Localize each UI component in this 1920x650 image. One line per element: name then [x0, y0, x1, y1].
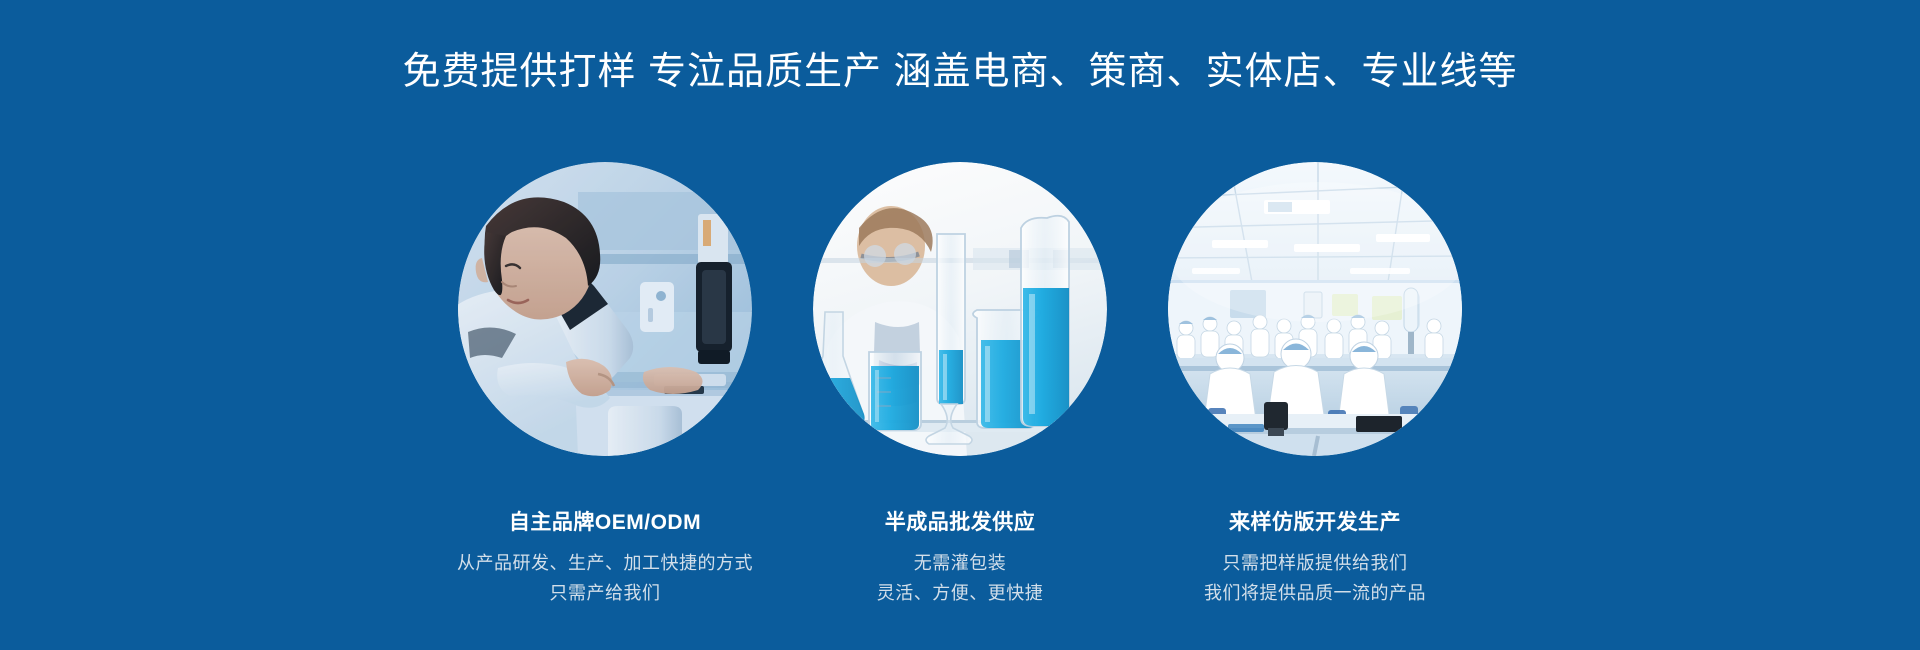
feature-card-line: 只需产给我们 [457, 578, 753, 608]
banner-headline: 免费提供打样 专泣品质生产 涵盖电商、策商、实体店、专业线等 [0, 46, 1920, 98]
feature-card-line: 灵活、方便、更快捷 [877, 578, 1044, 608]
feature-card-description: 只需把样版提供给我们 我们将提供品质一流的产品 [1204, 548, 1426, 608]
feature-card[interactable]: 自主品牌OEM/ODM 从产品研发、生产、加工快捷的方式 只需产给我们 [457, 162, 753, 608]
feature-card-title: 来样仿版开发生产 [1229, 510, 1401, 536]
feature-card-description: 无需灌包装 灵活、方便、更快捷 [877, 548, 1044, 608]
feature-card-description: 从产品研发、生产、加工快捷的方式 只需产给我们 [457, 548, 753, 608]
promo-banner: 免费提供打样 专泣品质生产 涵盖电商、策商、实体店、专业线等 [0, 0, 1920, 650]
scientist-microscope-photo [458, 162, 752, 456]
feature-card-line: 无需灌包装 [877, 548, 1044, 578]
feature-card[interactable]: 半成品批发供应 无需灌包装 灵活、方便、更快捷 [812, 162, 1108, 608]
feature-card-title: 自主品牌OEM/ODM [509, 510, 701, 536]
cleanroom-factory-photo [1168, 162, 1462, 456]
feature-card[interactable]: 来样仿版开发生产 只需把样版提供给我们 我们将提供品质一流的产品 [1167, 162, 1463, 608]
feature-card-title: 半成品批发供应 [885, 510, 1036, 536]
lab-glassware-photo [813, 162, 1107, 456]
feature-card-line: 只需把样版提供给我们 [1204, 548, 1426, 578]
feature-card-line: 从产品研发、生产、加工快捷的方式 [457, 548, 753, 578]
feature-card-row: 自主品牌OEM/ODM 从产品研发、生产、加工快捷的方式 只需产给我们 [0, 162, 1920, 608]
feature-card-line: 我们将提供品质一流的产品 [1204, 578, 1426, 608]
